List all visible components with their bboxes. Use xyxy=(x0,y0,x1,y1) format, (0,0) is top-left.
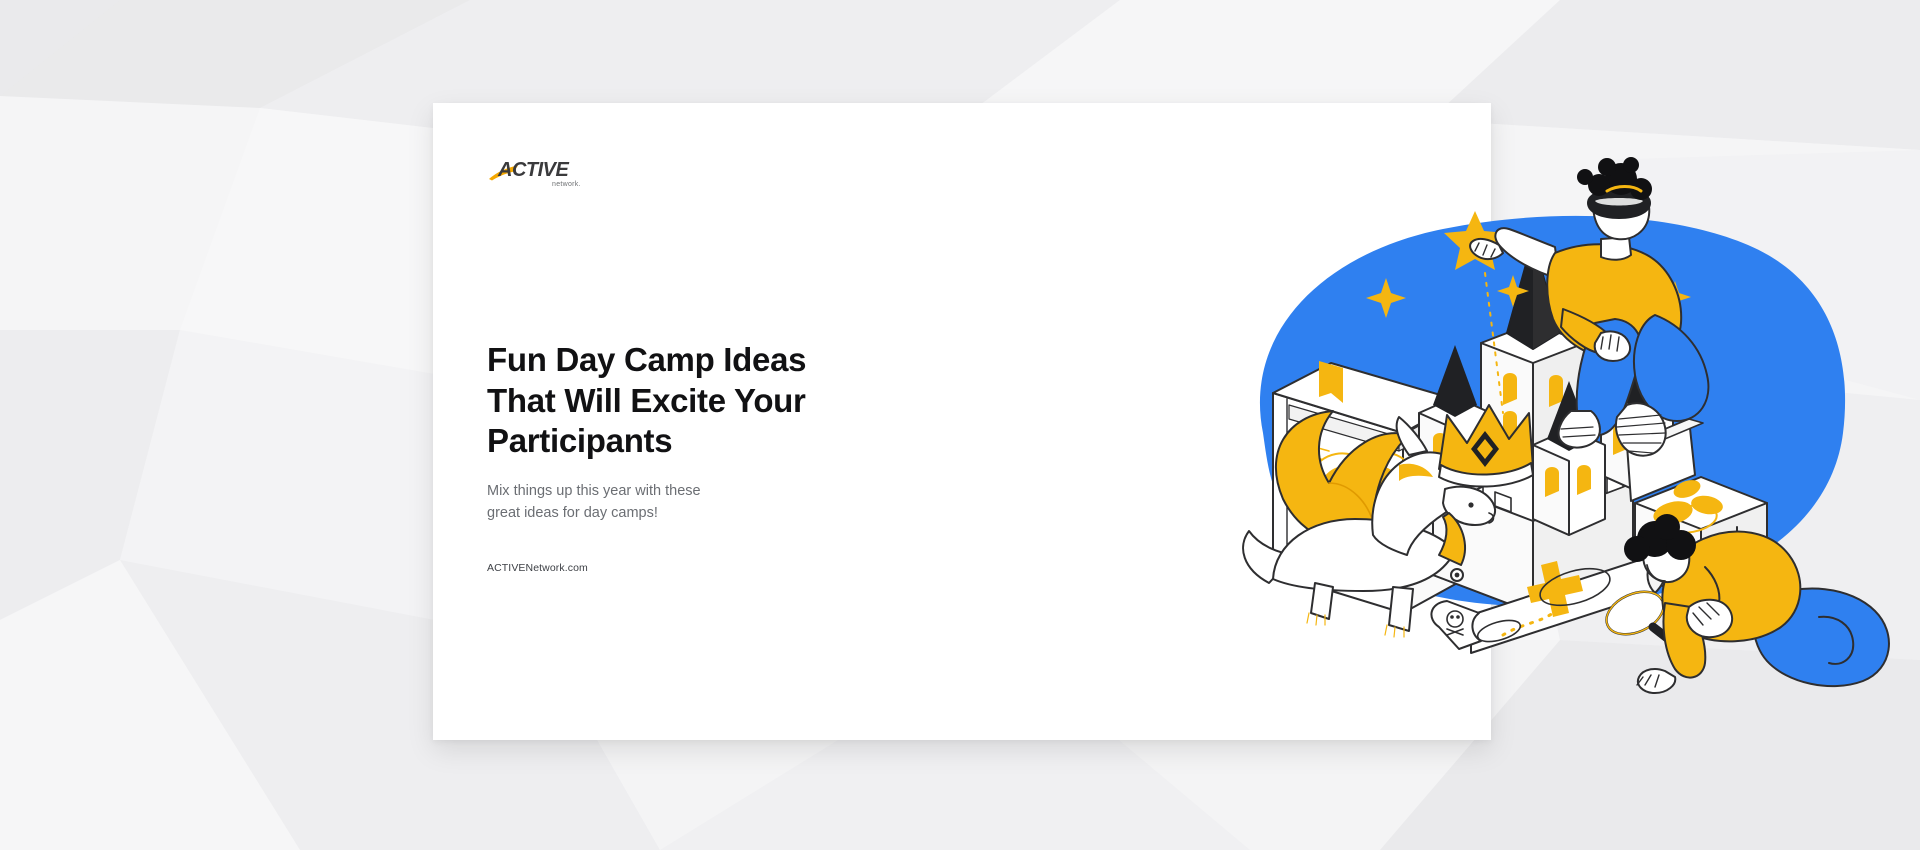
slide-viewer: ACTIVE network. ACTIVE network. Fun Day … xyxy=(0,0,1920,850)
logo-subtext-text: network. xyxy=(552,181,581,188)
footer-website-url[interactable]: ACTIVENetwork.com xyxy=(487,562,588,574)
day-camp-fantasy-adventure-illustration xyxy=(1203,183,1920,683)
headline-line-1: Fun Day Camp Ideas xyxy=(487,341,806,378)
headline-line-3: Participants xyxy=(487,422,672,459)
hand xyxy=(1595,331,1630,361)
page-title: Fun Day Camp IdeasThat Will Excite YourP… xyxy=(487,340,847,462)
headline-line-2: That Will Excite Your xyxy=(487,382,806,419)
slide-card: ACTIVE network. ACTIVE network. Fun Day … xyxy=(433,103,1491,740)
slide-text-column: Fun Day Camp IdeasThat Will Excite YourP… xyxy=(487,340,847,524)
slide-subhead: Mix things up this year with these great… xyxy=(487,480,727,524)
active-network-logo[interactable]: ACTIVE network. ACTIVE network. xyxy=(488,157,600,191)
logo-wordmark-text: ACTIVE xyxy=(497,159,570,181)
character-kneeling-explorer xyxy=(1624,514,1889,693)
